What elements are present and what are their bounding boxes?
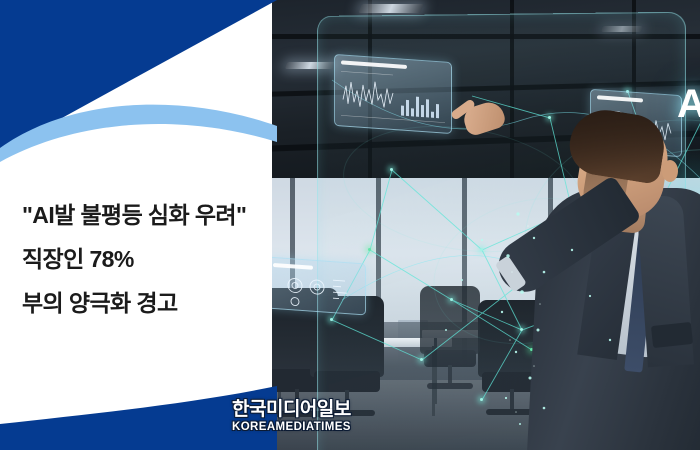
logo-korean-name: 한국미디어일보 [232, 399, 392, 420]
publisher-logo: 한국미디어일보 KOREAMEDIATIMES [232, 399, 392, 434]
headline-line-1: "AI발 불평등 심화 우려" [22, 200, 272, 230]
headline-block: "AI발 불평등 심화 우려" 직장인 78% 부의 양극화 경고 [22, 200, 272, 318]
headline-line-2: 직장인 78% [22, 244, 272, 274]
logo-english-name: KOREAMEDIATIMES [232, 420, 392, 434]
headline-line-3: 부의 양극화 경고 [22, 288, 272, 318]
news-card: AI [0, 0, 700, 450]
